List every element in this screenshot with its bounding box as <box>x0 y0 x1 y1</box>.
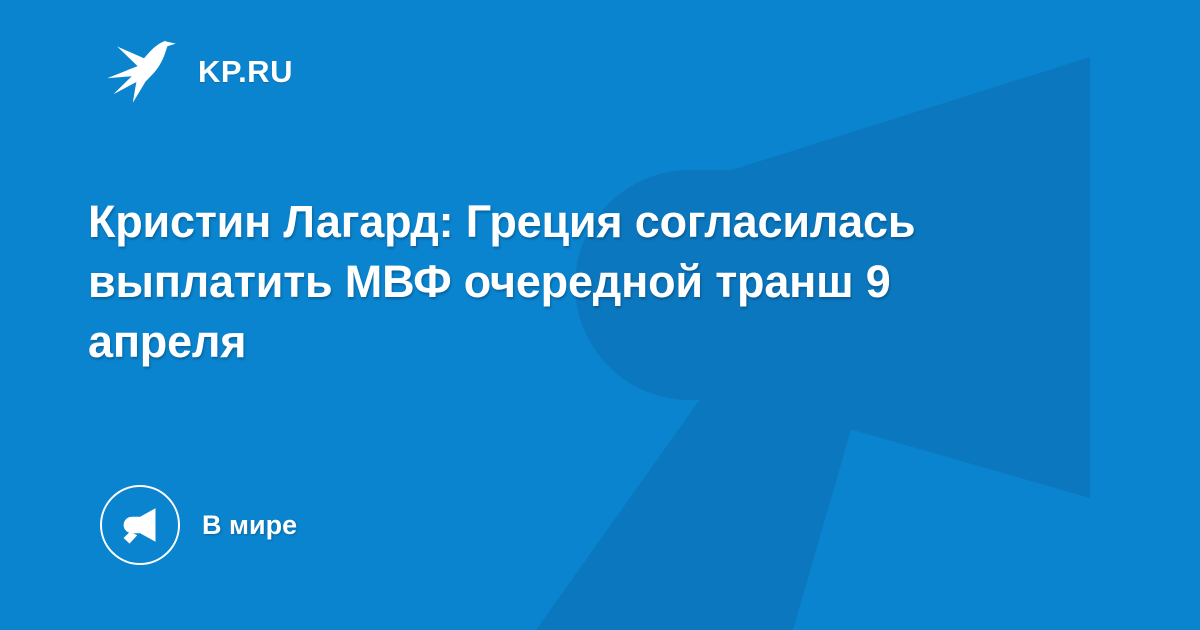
brand-header[interactable]: KP.RU <box>104 36 293 106</box>
swallow-bird-logo-icon <box>104 36 180 106</box>
social-share-card: KP.RU Кристин Лагард: Греция согласилась… <box>0 0 1200 630</box>
category-badge[interactable]: В мире <box>100 485 297 565</box>
category-label: В мире <box>202 512 297 539</box>
category-icon-circle <box>100 485 180 565</box>
page-title: Кристин Лагард: Греция согласилась выпла… <box>88 192 988 372</box>
brand-name: KP.RU <box>198 56 293 87</box>
megaphone-icon <box>119 504 161 546</box>
